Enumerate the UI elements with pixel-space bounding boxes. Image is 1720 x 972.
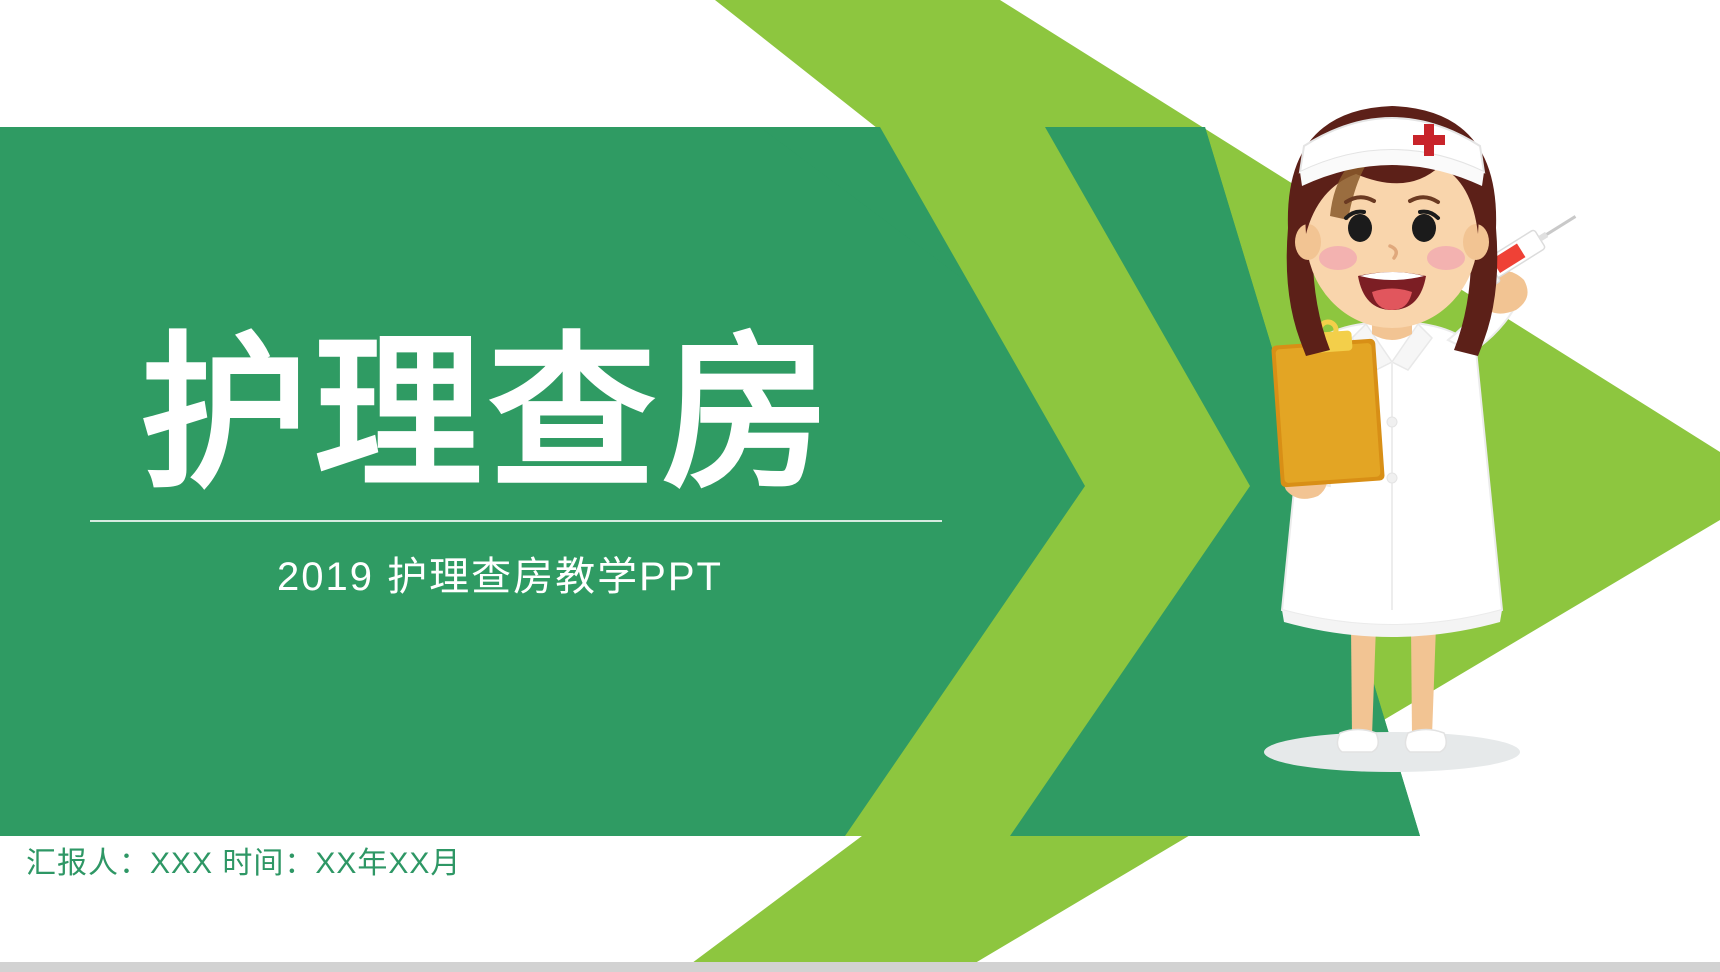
shoe-left xyxy=(1337,730,1378,753)
title-divider xyxy=(90,520,942,522)
leg-right xyxy=(1411,626,1436,736)
ear-right xyxy=(1463,224,1489,260)
eye-left xyxy=(1348,214,1372,242)
title-slide: 护理查房 2019 护理查房教学PPT 汇报人：XXX 时间：XX年XX月 xyxy=(0,0,1720,972)
eye-right xyxy=(1412,214,1436,242)
cheek-right xyxy=(1427,246,1465,270)
page-title: 护理查房 xyxy=(140,330,960,498)
nurse-character xyxy=(1180,50,1600,790)
leg-left xyxy=(1351,626,1376,736)
uniform-button-1 xyxy=(1387,417,1397,427)
title-block: 护理查房 2019 护理查房教学PPT xyxy=(140,330,960,602)
floor-shadow xyxy=(1264,732,1520,772)
uniform-button-2 xyxy=(1387,473,1397,483)
page-subtitle: 2019 护理查房教学PPT xyxy=(90,544,910,602)
footer-meta: 汇报人：XXX 时间：XX年XX月 xyxy=(26,838,461,882)
bottom-bar xyxy=(0,962,1720,972)
ear-left xyxy=(1295,224,1321,260)
cheek-left xyxy=(1319,246,1357,270)
shoe-right xyxy=(1405,730,1446,753)
